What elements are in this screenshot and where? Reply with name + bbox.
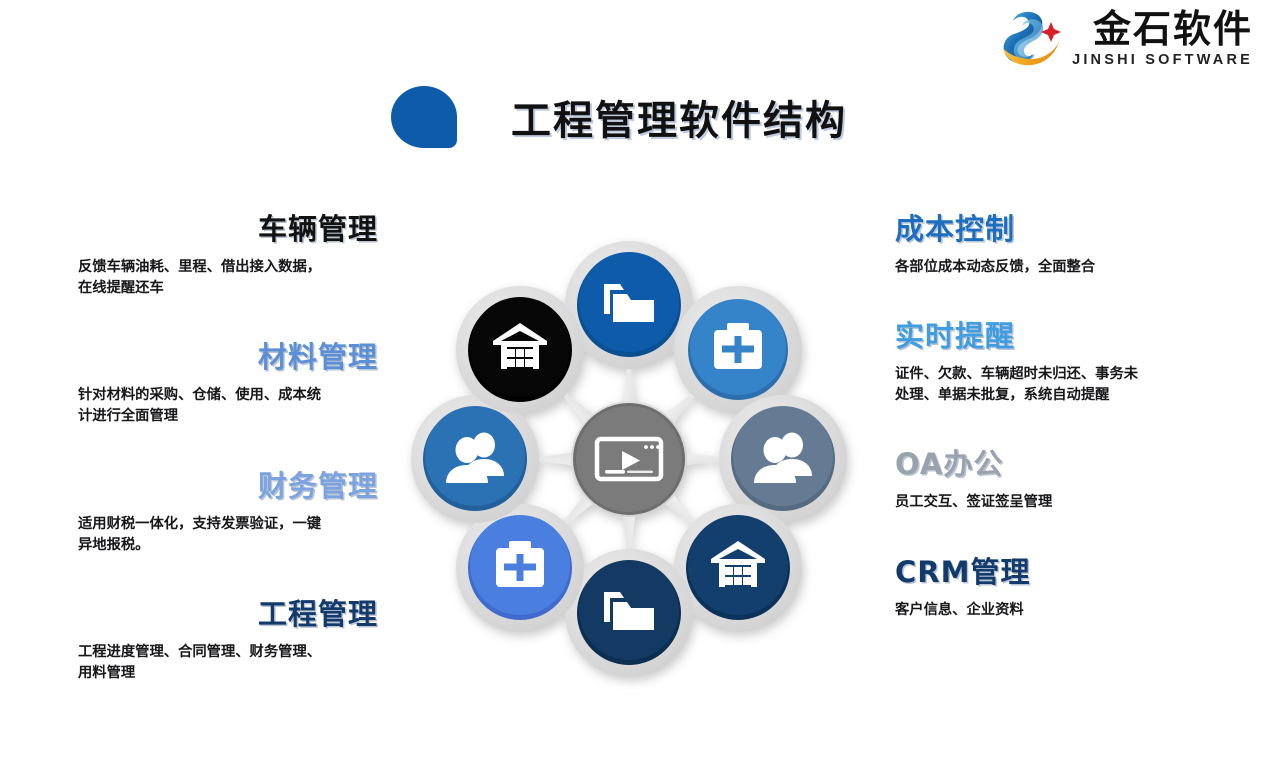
feature-heading: 材料管理 — [78, 334, 378, 376]
feature-item-engineering[interactable]: 工程管理 工程进度管理、合同管理、财务管理、用料管理 — [78, 591, 378, 684]
diagram-node-top-left[interactable] — [468, 297, 572, 402]
diagram-node-bottom-left[interactable] — [468, 515, 572, 620]
feature-list-right: 成本控制 各部位成本动态反馈，全面整合 实时提醒 证件、欠款、车辆超时未归还、事… — [895, 206, 1195, 621]
jinshi-swoosh-logo-icon — [998, 8, 1064, 70]
feature-item-finance[interactable]: 财务管理 适用财税一体化，支持发票验证，一键异地报税。 — [78, 463, 378, 556]
diagram-node-bottom-right[interactable] — [686, 515, 790, 620]
feature-description: 证件、欠款、车辆超时未归还、事务未处理、单据未批复，系统自动提醒 — [895, 364, 1147, 406]
diagram-node-right[interactable] — [731, 406, 835, 511]
brand-name-cn: 金石软件 — [1093, 10, 1253, 48]
feature-heading: 成本控制 — [895, 206, 1195, 248]
feature-description: 适用财税一体化，支持发票验证，一键异地报税。 — [78, 514, 330, 556]
feature-heading: CRM管理 — [895, 549, 1195, 591]
feature-item-oa[interactable]: OA办公 员工交互、签证签呈管理 — [895, 441, 1195, 513]
feature-item-material[interactable]: 材料管理 针对材料的采购、仓储、使用、成本统计进行全面管理 — [78, 334, 378, 427]
hub-and-spoke-diagram — [398, 228, 860, 690]
diagram-node-bottom[interactable] — [577, 560, 681, 665]
page-title: 工程管理软件结构 — [511, 88, 847, 146]
diagram-node-top[interactable] — [577, 252, 681, 357]
feature-heading: 财务管理 — [78, 463, 378, 505]
feature-item-crm[interactable]: CRM管理 客户信息、企业资料 — [895, 549, 1195, 621]
feature-heading: OA办公 — [895, 441, 1195, 483]
droplet-shape-icon — [391, 86, 457, 148]
feature-heading: 车辆管理 — [78, 206, 378, 248]
feature-list-left: 车辆管理 反馈车辆油耗、里程、借出接入数据，在线提醒还车 材料管理 针对材料的采… — [78, 206, 378, 684]
feature-item-vehicle[interactable]: 车辆管理 反馈车辆油耗、里程、借出接入数据，在线提醒还车 — [78, 206, 378, 299]
feature-heading: 实时提醒 — [895, 313, 1195, 355]
feature-description: 各部位成本动态反馈，全面整合 — [895, 257, 1147, 278]
diagram-node-left[interactable] — [423, 406, 527, 511]
feature-description: 客户信息、企业资料 — [895, 600, 1147, 621]
feature-description: 针对材料的采购、仓储、使用、成本统计进行全面管理 — [78, 385, 330, 427]
diagram-canvas — [398, 228, 860, 690]
feature-heading: 工程管理 — [78, 591, 378, 633]
feature-description: 工程进度管理、合同管理、财务管理、用料管理 — [78, 642, 330, 684]
feature-description: 员工交互、签证签呈管理 — [895, 492, 1147, 513]
page-title-block: 工程管理软件结构 — [393, 84, 847, 150]
brand-logo: 金石软件 JINSHI SOFTWARE — [998, 8, 1253, 70]
feature-item-realtime-alert[interactable]: 实时提醒 证件、欠款、车辆超时未归还、事务未处理、单据未批复，系统自动提醒 — [895, 313, 1195, 406]
diagram-center-hub[interactable] — [573, 403, 685, 515]
feature-item-cost-control[interactable]: 成本控制 各部位成本动态反馈，全面整合 — [895, 206, 1195, 278]
feature-description: 反馈车辆油耗、里程、借出接入数据，在线提醒还车 — [78, 257, 330, 299]
brand-name-en: JINSHI SOFTWARE — [1072, 53, 1253, 68]
